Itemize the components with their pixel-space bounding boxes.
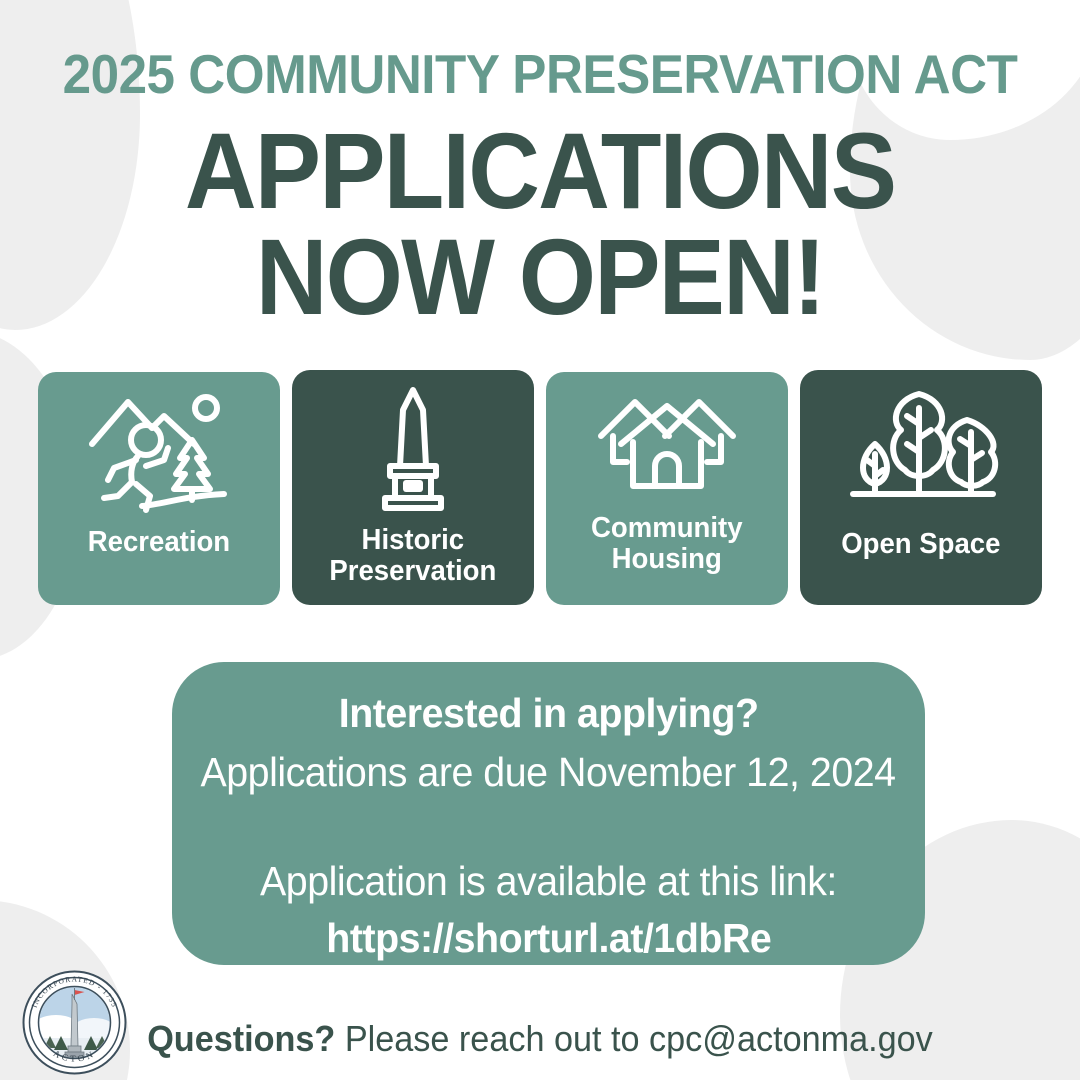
headline-line-1: APPLICATIONS [43,118,1037,224]
info-panel-heading: Interested in applying? [339,690,759,737]
application-info-panel: Interested in applying? Applications are… [172,662,925,965]
footer-contact: Questions? Please reach out to cpc@acton… [27,1018,1053,1060]
category-card-community-housing[interactable]: Community Housing [546,372,788,605]
application-link[interactable]: https://shorturl.at/1dbRe [326,915,771,962]
category-card-row: Recreation Historic Preservation [38,370,1042,605]
category-label-community-housing: Community Housing [586,513,749,576]
headline-line-2: NOW OPEN! [43,224,1037,330]
category-card-open-space[interactable]: Open Space [800,370,1042,605]
category-label-open-space: Open Space [836,529,1007,560]
obelisk-monument-icon [338,384,488,517]
questions-label: Questions? [147,1018,335,1059]
category-card-recreation[interactable]: Recreation [38,372,280,605]
poster-canvas: 2025 COMMUNITY PRESERVATION ACT APPLICAT… [0,0,1080,1080]
info-panel-link-intro: Application is available at this link: [260,858,837,905]
category-card-historic-preservation[interactable]: Historic Preservation [292,370,534,605]
eyebrow-title: 2025 COMMUNITY PRESERVATION ACT [38,42,1042,106]
contact-email-text[interactable]: Please reach out to cpc@actonma.gov [335,1018,932,1059]
two-houses-icon [587,386,747,511]
category-label-recreation: Recreation [82,527,236,558]
three-trees-icon [841,384,1001,511]
runner-mountains-icon [84,386,234,521]
page-title: APPLICATIONS NOW OPEN! [43,118,1037,330]
category-label-historic-preservation: Historic Preservation [324,525,502,588]
info-panel-due-date: Applications are due November 12, 2024 [201,749,896,796]
